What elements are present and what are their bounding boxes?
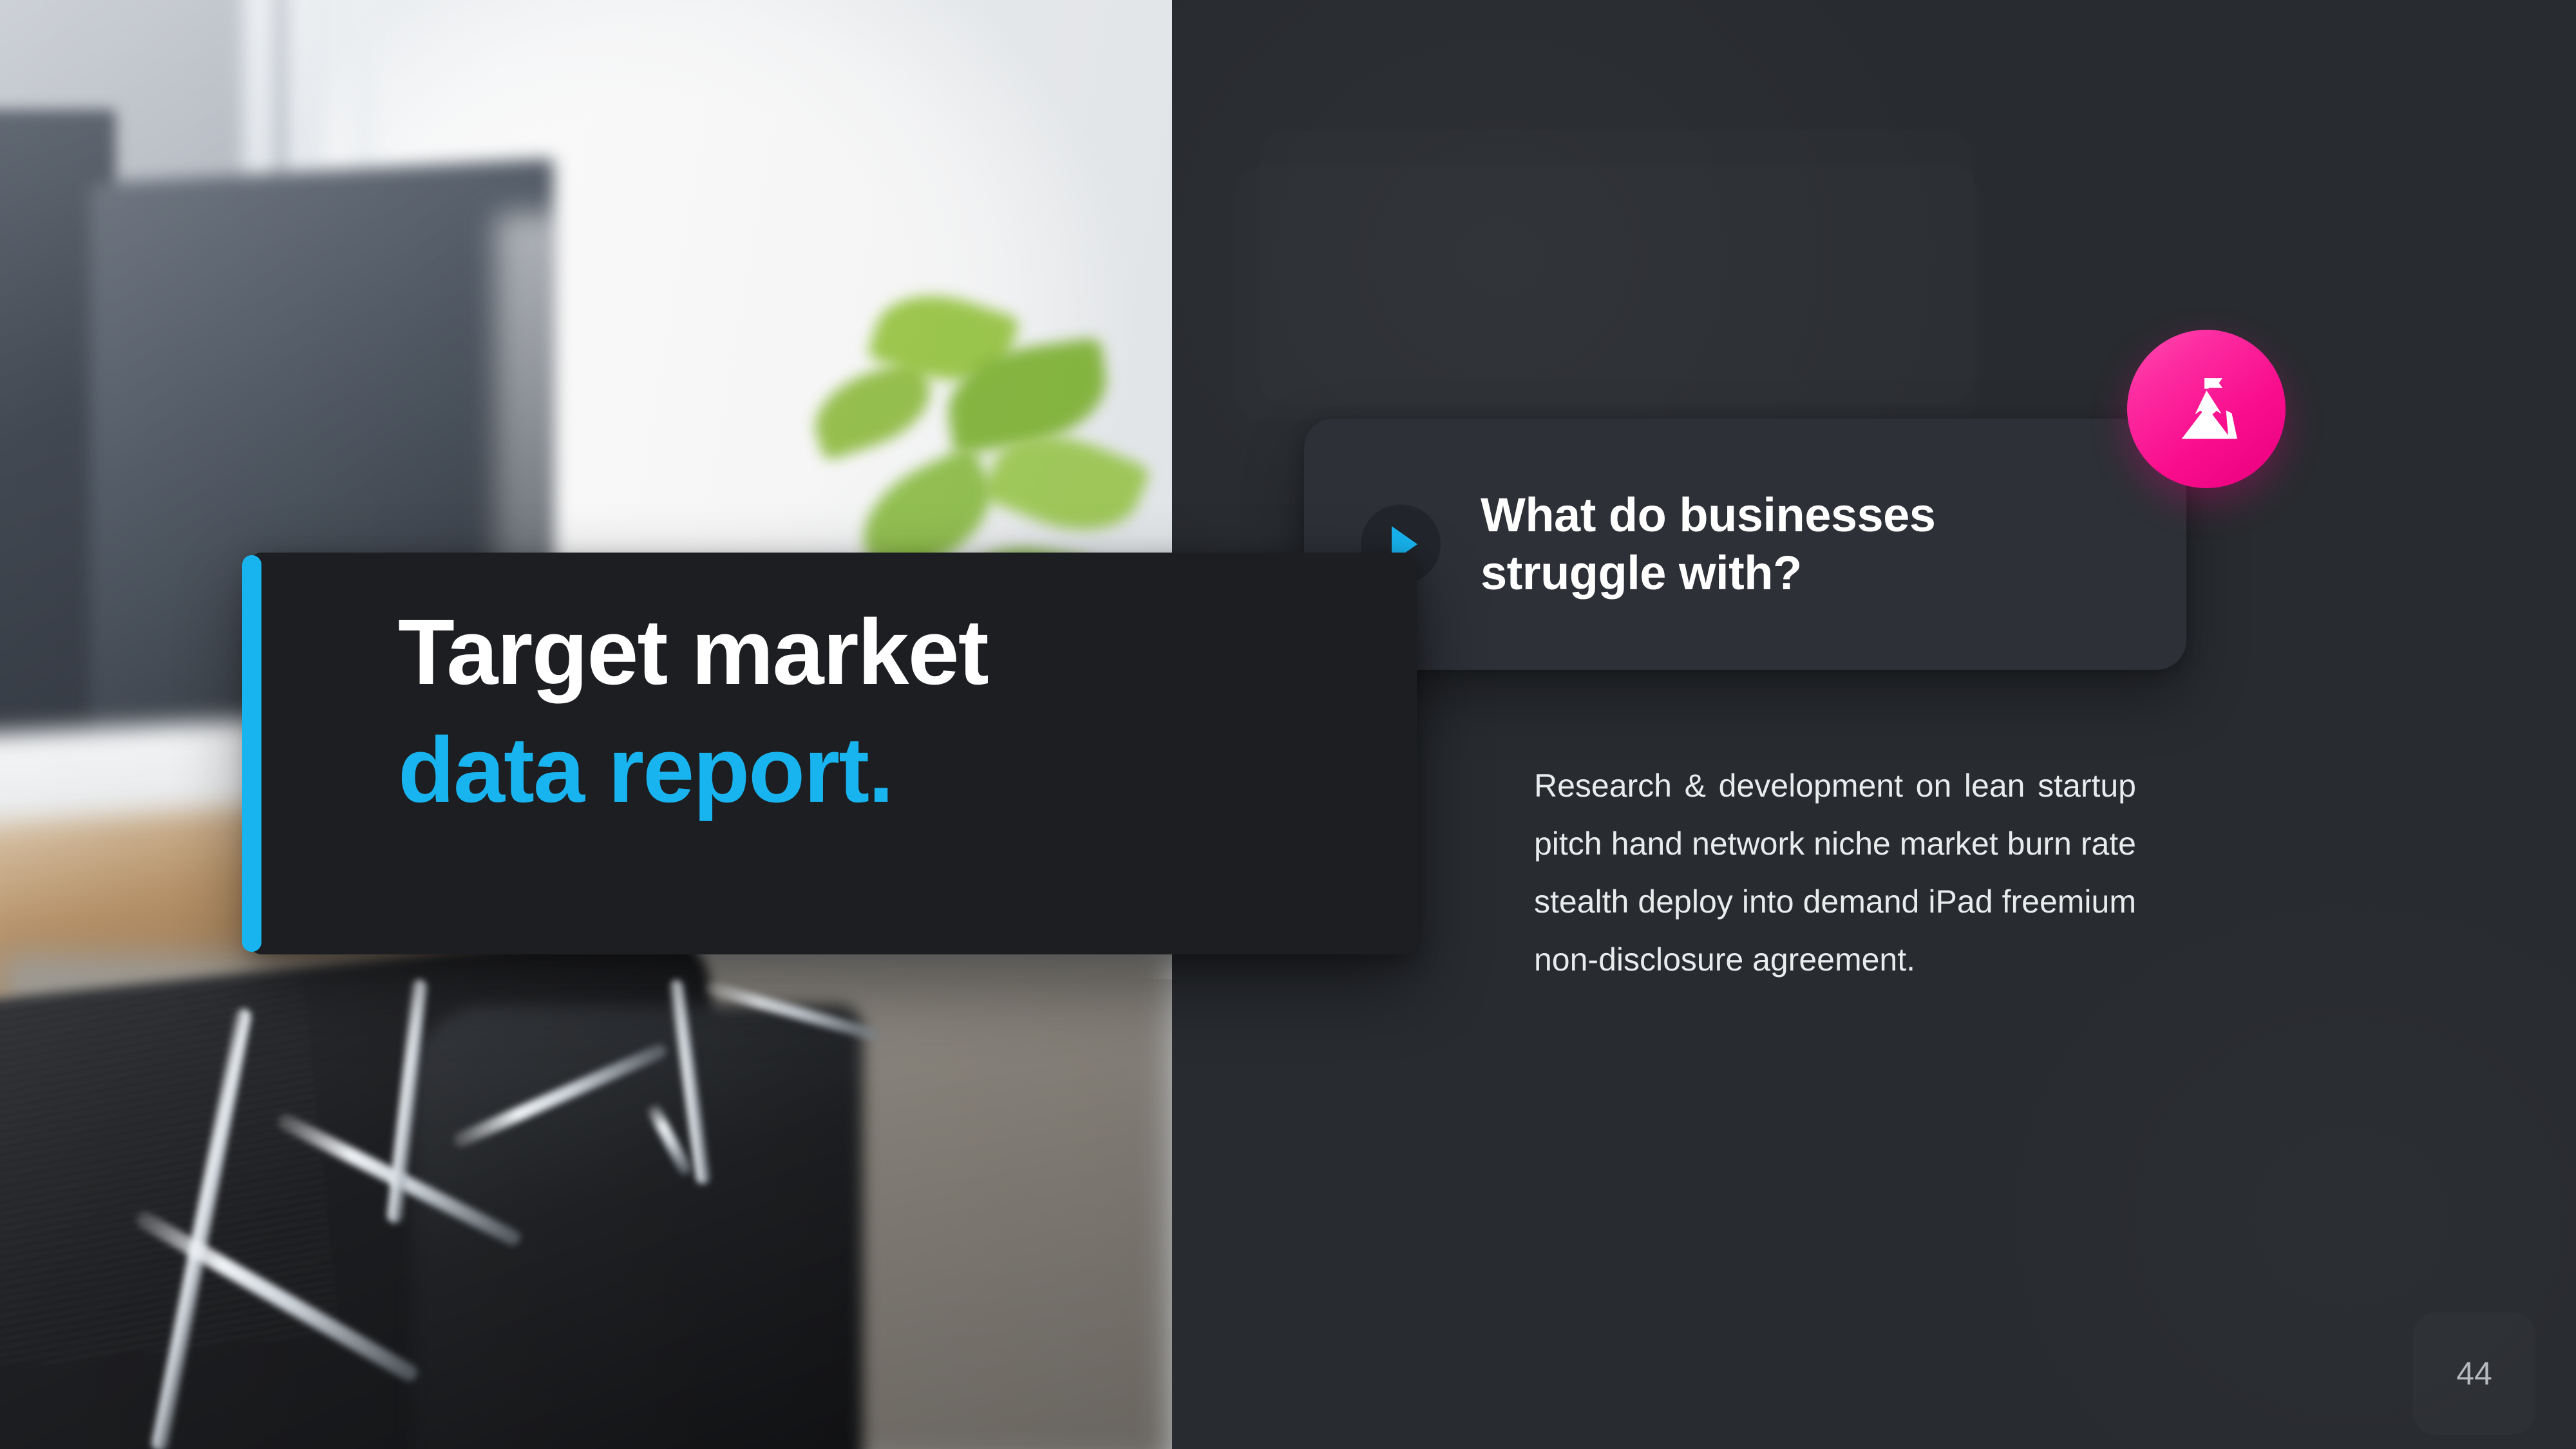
accent-bar <box>242 555 261 952</box>
mountain-flag-icon <box>2168 371 2244 447</box>
slide-title-line-1: Target market <box>398 600 1378 704</box>
question-card[interactable]: What do businesses struggle with? <box>1304 419 2186 670</box>
presentation-slide: What do businesses struggle with? Resear… <box>0 0 2576 1449</box>
mountain-flag-badge[interactable] <box>2127 330 2286 488</box>
title-text-block: Target market data report. <box>398 600 1378 822</box>
title-card: Target market data report. <box>250 553 1417 954</box>
decorative-ghost-card <box>1259 129 1974 406</box>
slide-title-line-2: data report. <box>398 718 1378 822</box>
body-paragraph: Research & development on lean startup p… <box>1534 757 2136 989</box>
page-number: 44 <box>2413 1312 2535 1435</box>
question-heading: What do businesses struggle with? <box>1481 486 2015 603</box>
